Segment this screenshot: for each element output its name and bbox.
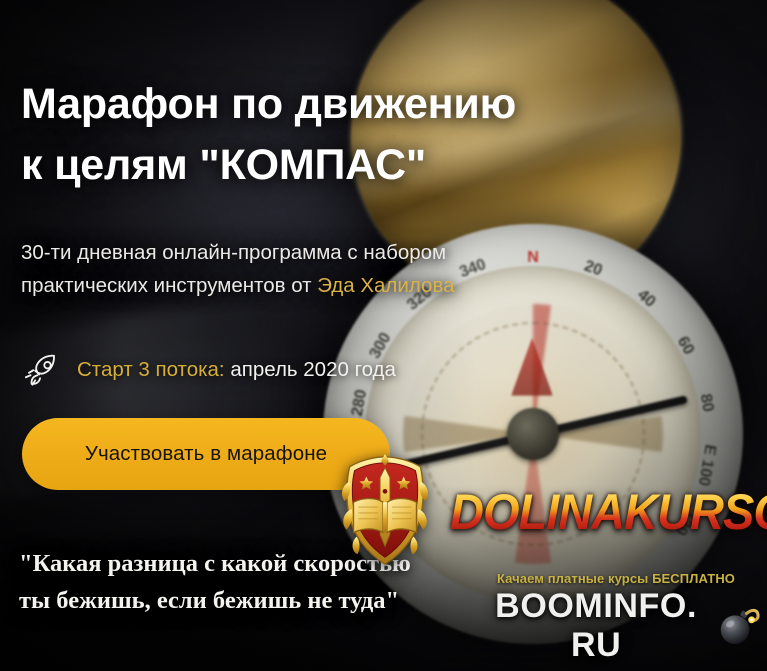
subtitle-line-1: 30-ти дневная онлайн-программа с набором	[21, 241, 446, 264]
hero-landing-screenshot: N20406080E 100120280300320340 Марафон по…	[0, 0, 767, 671]
boominfo-watermark: Качаем платные курсы БЕСПЛАТНО BOOMINFO.…	[471, 571, 761, 665]
subtitle-line-2-prefix: практических инструментов от	[21, 274, 317, 297]
boominfo-wordmark: BOOMINFO. RU	[471, 587, 721, 665]
quote-line-2: ты бежишь, если бежишь не туда"	[19, 582, 449, 619]
start-label-gold: Старт 3 потока:	[77, 358, 225, 381]
page-title: Марафон по движению к целям "КОМПАС"	[21, 74, 701, 196]
rocket-icon	[21, 350, 63, 390]
start-label-date: апрель 2020 года	[225, 358, 396, 381]
bomb-icon	[715, 600, 761, 648]
start-date-row: Старт 3 потока: апрель 2020 года	[21, 350, 396, 390]
boominfo-tagline: Качаем платные курсы БЕСПЛАТНО	[471, 571, 761, 586]
dolinakursov-wordmark: DOLINAKURSOV	[450, 482, 767, 540]
subtitle-author-link[interactable]: Эда Халилова	[317, 274, 454, 297]
shield-book-emblem-icon	[326, 452, 444, 570]
subtitle: 30-ти дневная онлайн-программа с набором…	[21, 236, 581, 302]
headline-line-1: Марафон по движению	[21, 74, 701, 135]
dolinakursov-watermark: DOLINAKURSOV	[326, 452, 767, 570]
boominfo-name-row: BOOMINFO. RU	[471, 587, 761, 665]
headline-line-2: к целям "КОМПАС"	[21, 135, 701, 196]
